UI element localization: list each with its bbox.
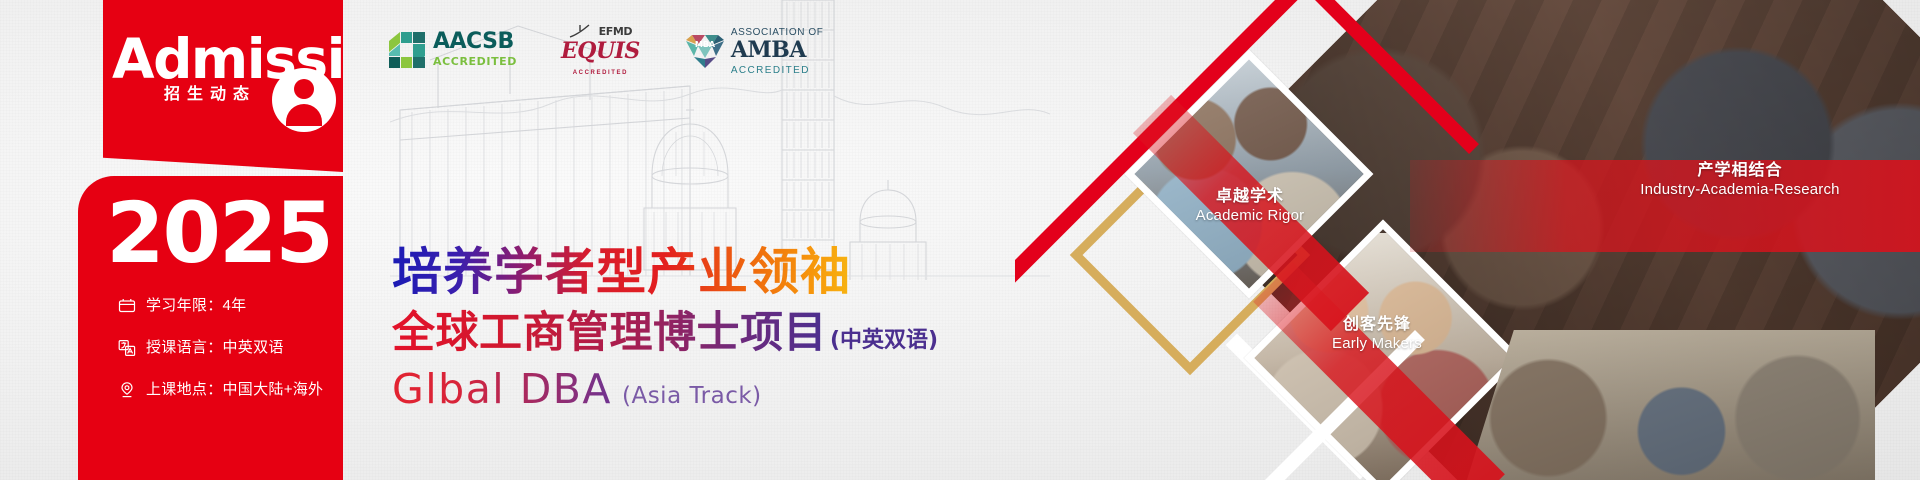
list-item: 学习年限：4年 — [118, 296, 378, 316]
accreditation-logos: AACSB ACCREDITED EFMD EQUIS ACCREDITED — [388, 22, 823, 78]
person-body-shape — [286, 104, 322, 126]
equis-name: EQUIS — [561, 38, 640, 64]
person-in-circle-icon — [272, 68, 336, 132]
headline-program-name-row: 全球工商管理博士项目 (中英双语) — [392, 308, 938, 358]
amba-wordmark: ASSOCIATION OF AMBA ACCREDITED — [731, 23, 824, 77]
headline-english-row: Glbal DBA (Asia Track) — [392, 366, 938, 412]
efmd-swoosh-icon — [569, 23, 595, 39]
equis-logo: EFMD EQUIS ACCREDITED — [561, 22, 640, 78]
list-item: 授课语言：中英双语 — [118, 338, 378, 358]
program-facts-list: 学习年限：4年 授课语言：中英双语 — [118, 296, 378, 422]
amba-logo: MBA ASSOCIATION OF AMBA ACCREDITED — [684, 23, 824, 77]
badge-en-early-makers: Early Makers — [1267, 335, 1487, 353]
aacsb-name: AACSB — [433, 29, 514, 54]
list-item-label: 学习年限：4年 — [146, 296, 246, 316]
location-pin-icon — [118, 381, 136, 399]
admission-chinese-label: 招生动态 — [164, 80, 256, 104]
aacsb-square-icon — [388, 31, 426, 69]
admission-logo: Admissi 招生动态 — [112, 28, 352, 114]
badge-label-early-makers: 创客先锋 Early Makers — [1267, 316, 1487, 353]
headline-block: 培养学者型产业领袖 全球工商管理博士项目 (中英双语) Glbal DBA (A… — [392, 244, 938, 412]
calendar-icon — [118, 297, 136, 315]
photo-collage: 卓越学术 Academic Rigor 产学相结合 Industry-Acade… — [1015, 0, 1920, 480]
list-item-label: 授课语言：中英双语 — [146, 338, 284, 358]
aacsb-wordmark: AACSB ACCREDITED — [433, 31, 517, 69]
aacsb-accredited-label: ACCREDITED — [433, 55, 517, 68]
badge-en-academic-rigor: Academic Rigor — [1155, 207, 1345, 225]
headline-program-name: 全球工商管理博士项目 — [392, 308, 827, 358]
badge-cn-early-makers: 创客先锋 — [1267, 316, 1487, 335]
headline-program-bilingual-note: (中英双语) — [830, 322, 938, 354]
list-item: 上课地点：中国大陆+海外 — [118, 380, 378, 400]
badge-cn-industry-academia: 产学相结合 — [1575, 162, 1905, 181]
aacsb-logo: AACSB ACCREDITED — [388, 31, 517, 69]
person-head-shape — [294, 79, 314, 99]
list-item-label: 上课地点：中国大陆+海外 — [146, 380, 323, 400]
amba-diamond-icon: MBA — [684, 32, 724, 68]
headline-english-track: (Asia Track) — [622, 383, 762, 409]
year-label: 2025 — [104, 186, 334, 280]
badge-label-academic-rigor: 卓越学术 Academic Rigor — [1155, 188, 1345, 225]
badge-en-industry-academia: Industry-Academia-Research — [1575, 181, 1905, 199]
headline-tagline: 培养学者型产业领袖 — [392, 244, 938, 300]
left-red-panel: Admissi 招生动态 2025 学习年限：4年 — [0, 0, 420, 480]
badge-cn-academic-rigor: 卓越学术 — [1155, 188, 1345, 207]
svg-text:MBA: MBA — [695, 40, 716, 49]
equis-wordmark: EFMD EQUIS ACCREDITED — [561, 22, 640, 78]
amba-name: AMBA — [731, 37, 806, 63]
equis-accredited-label: ACCREDITED — [573, 70, 628, 76]
language-icon — [118, 339, 136, 357]
photo-library-bottom — [1445, 330, 1875, 480]
efmd-label: EFMD — [599, 26, 633, 37]
headline-english-name: Glbal DBA — [392, 366, 612, 412]
amba-accredited-label: ACCREDITED — [731, 65, 810, 76]
admission-banner: Admissi 招生动态 2025 学习年限：4年 — [0, 0, 1920, 480]
badge-label-industry-academia: 产学相结合 Industry-Academia-Research — [1575, 162, 1905, 199]
